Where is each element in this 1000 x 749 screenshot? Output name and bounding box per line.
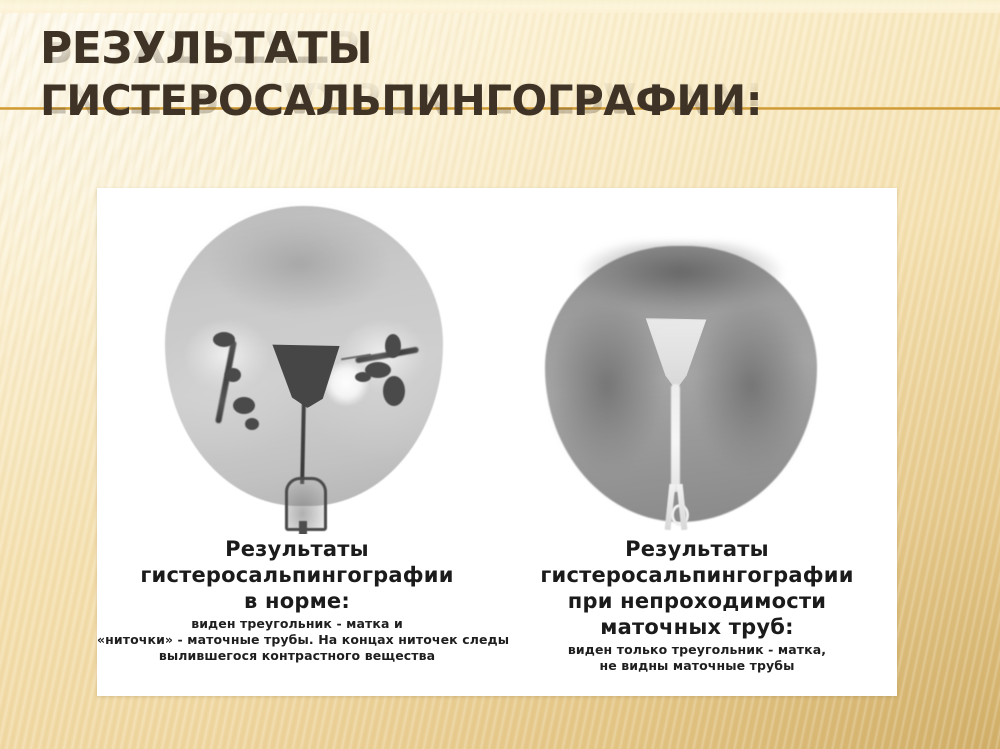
presentation-slide: РЕЗУЛЬТАТЫ РЕЗУЛЬТАТЫ ГИСТЕРОСАЛЬПИНГОГР… [0, 0, 1000, 749]
title-line-1: РЕЗУЛЬТАТЫ [40, 24, 960, 74]
forceps-device [659, 484, 693, 530]
caption-right-detail: виден только треугольник - матка, не вид… [497, 642, 897, 674]
caption-left-heading: Результаты гистеросальпингографии в норм… [97, 536, 497, 614]
contrast-bead [225, 368, 241, 382]
title-line-2-wrap: ГИСТЕРОСАЛЬПИНГОГРАФИИ: ГИСТЕРОСАЛЬПИНГО… [40, 76, 960, 128]
contrast-bead [233, 397, 255, 414]
title-line-2: ГИСТЕРОСАЛЬПИНГОГРАФИИ: [40, 76, 960, 126]
sacrum-shadow [209, 218, 389, 314]
caption-right-heading-line-4: маточных труб: [497, 614, 897, 640]
contrast-bead [245, 418, 259, 430]
caption-left-detail-line-2: «ниточки» - маточные трубы. На концах ни… [97, 632, 497, 648]
sacrum-shadow [577, 242, 785, 318]
caption-right-heading-line-3: при непроходимости [497, 588, 897, 614]
background-top-band [0, 0, 1000, 13]
cervical-canal [671, 384, 680, 492]
caption-right-detail-line-2: не видны маточные трубы [497, 658, 897, 674]
caption-left-detail-line-3: вылившегося контрастного вещества [97, 648, 497, 664]
figure-right-column: Результаты гистеросальпингографии при не… [497, 188, 897, 696]
contrast-bead [385, 334, 401, 358]
hysterosalpingography-tubal-obstruction-xray [531, 236, 831, 536]
caption-left-heading-line-1: Результаты [97, 536, 497, 562]
contrast-bead [213, 332, 235, 347]
title-line-1-wrap: РЕЗУЛЬТАТЫ РЕЗУЛЬТАТЫ [40, 24, 960, 76]
caption-left: Результаты гистеросальпингографии в норм… [97, 536, 497, 664]
caption-right-heading: Результаты гистеросальпингографии при не… [497, 536, 897, 640]
caption-right: Результаты гистеросальпингографии при не… [497, 536, 897, 674]
figure-left-column: Результаты гистеросальпингографии в норм… [97, 188, 497, 696]
caption-left-heading-line-3: в норме: [97, 588, 497, 614]
contrast-bead [355, 372, 371, 382]
caption-left-detail: виден треугольник - матка и «ниточки» - … [97, 616, 497, 664]
cannula-stem [299, 521, 307, 534]
hysterosalpingography-normal-xray [149, 194, 459, 534]
contrast-bead [383, 376, 405, 406]
caption-left-heading-line-2: гистеросальпингографии [97, 562, 497, 588]
page-title: РЕЗУЛЬТАТЫ РЕЗУЛЬТАТЫ ГИСТЕРОСАЛЬПИНГОГР… [40, 24, 960, 128]
figure-panel: Результаты гистеросальпингографии в норм… [97, 188, 897, 696]
caption-left-detail-line-1: виден треугольник - матка и [97, 616, 497, 632]
caption-right-heading-line-2: гистеросальпингографии [497, 562, 897, 588]
caption-right-detail-line-1: виден только треугольник - матка, [497, 642, 897, 658]
caption-right-heading-line-1: Результаты [497, 536, 897, 562]
forceps-ring [671, 504, 689, 526]
